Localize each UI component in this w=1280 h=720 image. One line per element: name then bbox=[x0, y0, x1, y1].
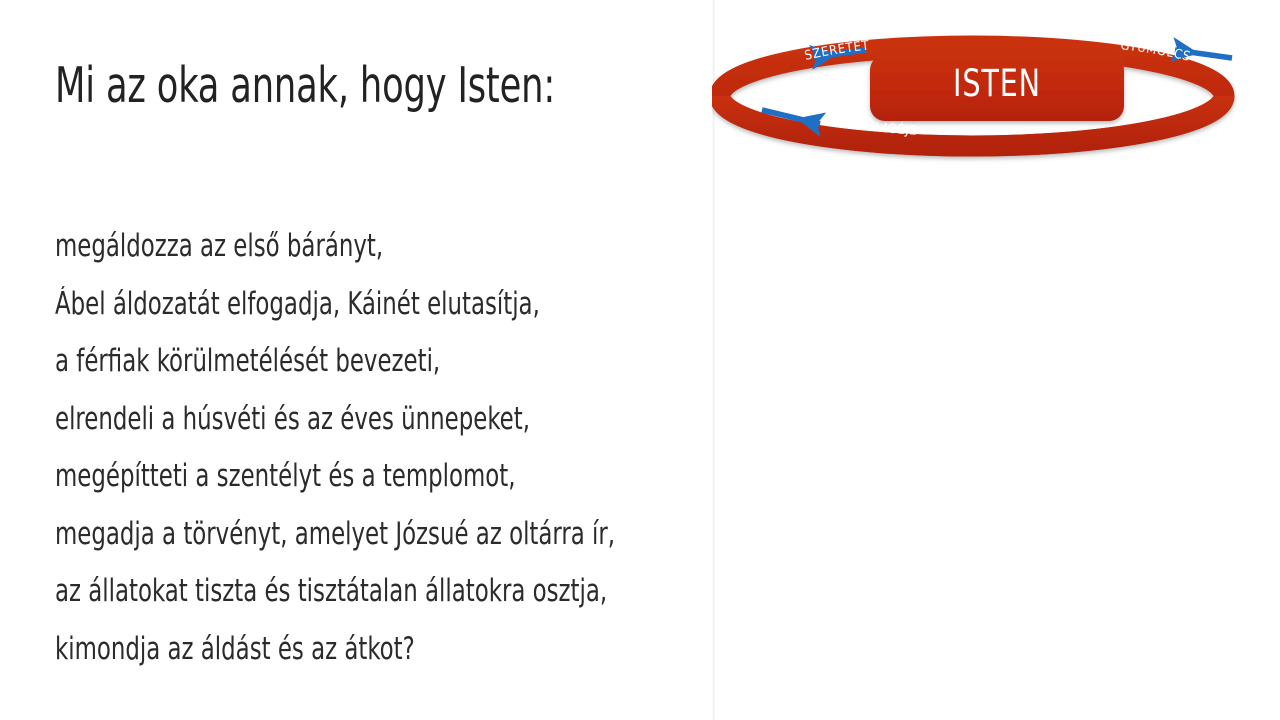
list-item: az állatokat tiszta és tisztátalan állat… bbox=[55, 563, 596, 621]
body-text-list: megáldozza az első bárányt, Ábel áldozat… bbox=[55, 218, 715, 678]
list-item: megépítteti a szentélyt és a templomot, bbox=[55, 448, 596, 506]
list-item: kimondja az áldást és az átkot? bbox=[55, 621, 596, 679]
list-item: megadja a törvényt, amelyet Józsué az ol… bbox=[55, 506, 596, 564]
list-item: megáldozza az első bárányt, bbox=[55, 218, 596, 276]
page-title: Mi az oka annak, hogy Isten: bbox=[55, 58, 555, 114]
text-column: Mi az oka annak, hogy Isten: megáldozza … bbox=[0, 0, 712, 720]
cycle-diagram: SZERETET GYÜMÖLCS ISTEN IGÉJE ISTEN bbox=[712, 0, 1280, 720]
list-item: a férfiak körülmetélését bevezeti, bbox=[55, 333, 596, 391]
diagram-graphic: SZERETET GYÜMÖLCS ISTEN IGÉJE bbox=[712, 0, 1280, 200]
center-box bbox=[870, 55, 1124, 121]
list-item: Ábel áldozatát elfogadja, Káinét elutasí… bbox=[55, 276, 596, 334]
slide-canvas: Mi az oka annak, hogy Isten: megáldozza … bbox=[0, 0, 1280, 720]
list-item: elrendeli a húsvéti és az éves ünnepeket… bbox=[55, 391, 596, 449]
